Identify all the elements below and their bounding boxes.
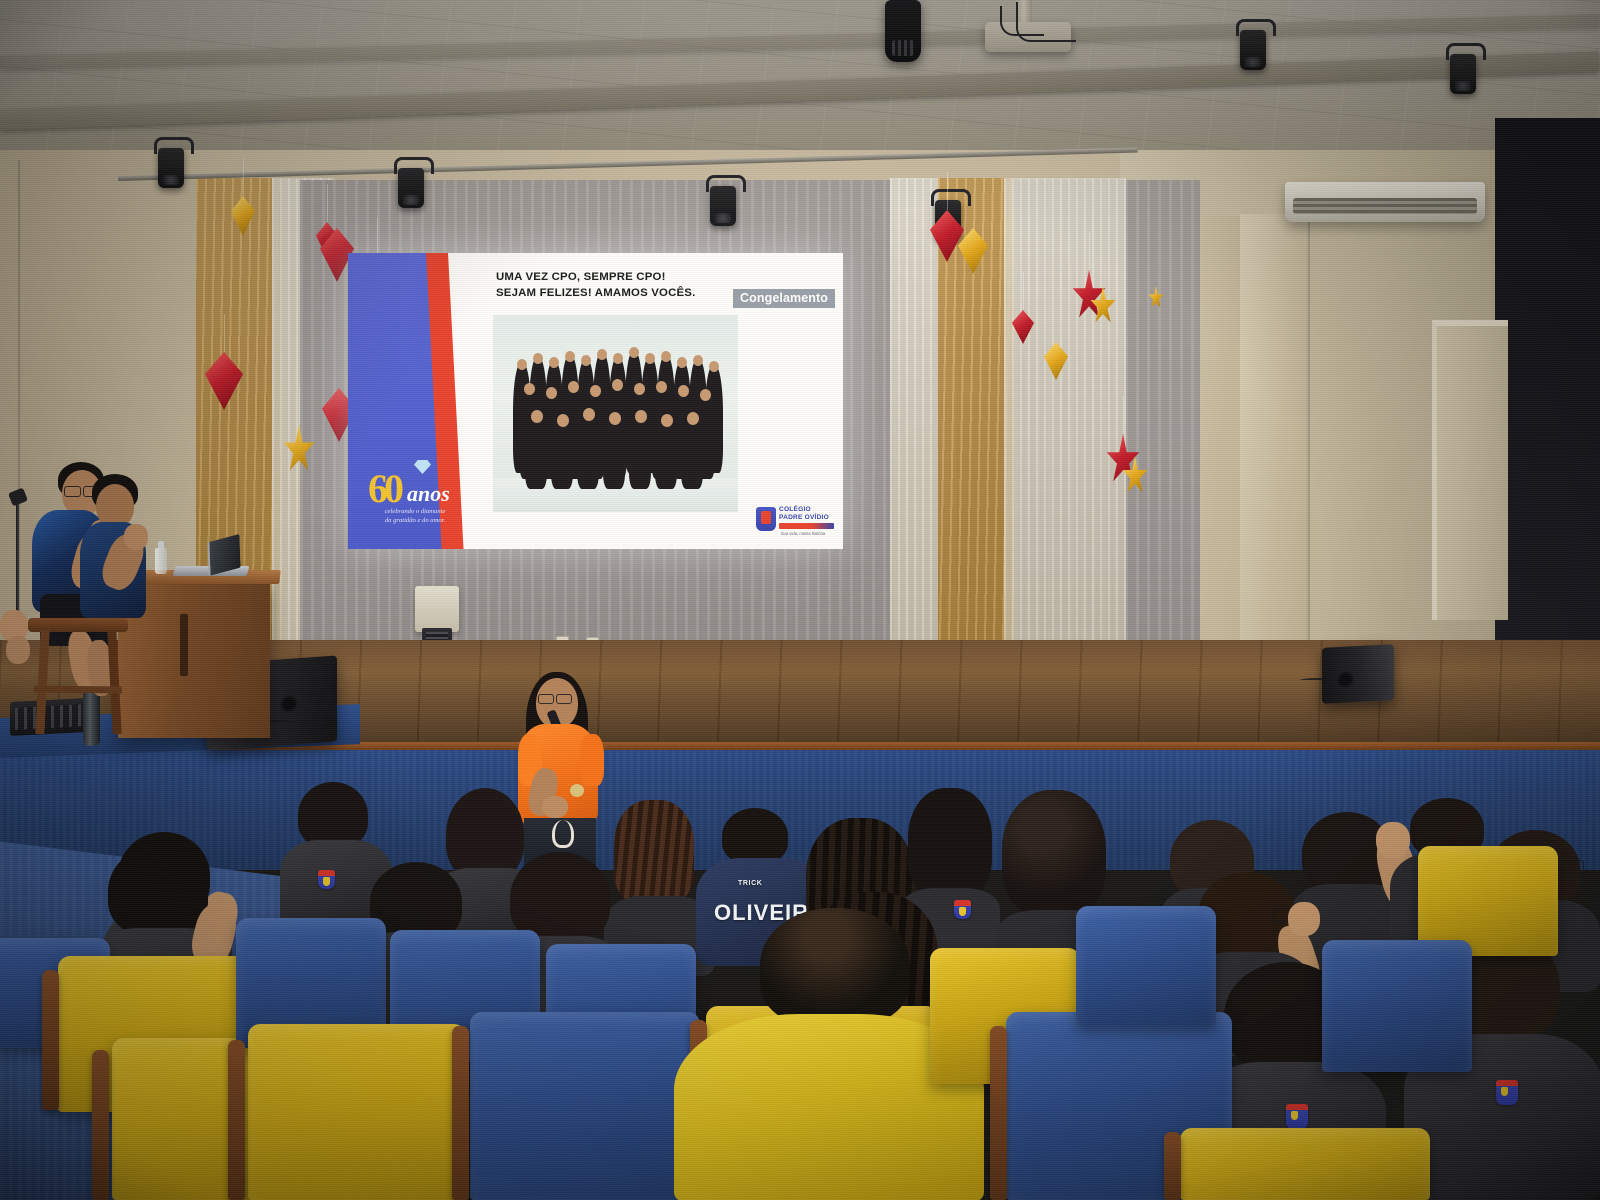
auditorium-scene: UMA VEZ CPO, SEMPRE CPO! SEJAM FELIZES! …: [0, 0, 1600, 1200]
side-door[interactable]: [1432, 320, 1508, 620]
clapping-hand: [1288, 902, 1320, 936]
stage-cable: [1296, 678, 1342, 682]
seat-armrest: [42, 970, 59, 1110]
curly-hair: [1002, 790, 1106, 918]
arm-right-sleeve: [580, 734, 604, 786]
hair: [298, 782, 368, 848]
curly-hair: [760, 908, 910, 1026]
seat-armrest: [228, 1040, 245, 1200]
clapping-hand: [6, 636, 30, 664]
stage-light-fixture: [1240, 30, 1266, 70]
water-bottle: [83, 690, 100, 746]
hanging-decoration-gold-star: [1122, 456, 1148, 496]
decoration-thread: [299, 387, 300, 425]
slide-badge: Congelamento: [733, 289, 835, 308]
stage-light-fixture: [398, 168, 424, 208]
gold-star-balloon: [1148, 286, 1164, 310]
gold-diamond-balloon: [958, 228, 988, 274]
school-shield-icon: [756, 507, 776, 531]
red-diamond-balloon: [1012, 310, 1034, 344]
slide-headline-line1: UMA VEZ CPO, SEMPRE CPO!: [496, 269, 746, 285]
gold-diamond-balloon: [1044, 342, 1068, 380]
eyeglasses-icon: [1562, 860, 1584, 874]
hair: [722, 808, 788, 864]
jersey-brand-text: TRICK: [738, 880, 762, 887]
auditorium-seat[interactable]: [1180, 1128, 1430, 1200]
hand: [124, 524, 148, 550]
hanging-decoration-gold-star: [283, 425, 315, 475]
tagline-line1: celebrando o diamante: [366, 507, 464, 516]
gold-star-balloon: [1122, 456, 1148, 496]
seat-armrest: [452, 1026, 469, 1200]
gold-diamond-balloon: [231, 196, 255, 236]
school-name: COLÉGIO PADRE OVÍDIO: [779, 506, 829, 522]
tagline-line2: da gratidão e do amor.: [366, 516, 464, 525]
school-crest-icon: [1286, 1104, 1308, 1129]
stage-light-fixture: [710, 186, 736, 226]
school-logo-bar: [779, 523, 834, 529]
wristwatch: [570, 784, 584, 797]
auditorium-seat[interactable]: [1076, 906, 1216, 1026]
hanging-decoration-gold-diamond: [958, 228, 988, 274]
stool-rung: [34, 686, 122, 694]
anniversary-word: anos: [407, 481, 450, 507]
school-crest-icon: [954, 900, 971, 919]
diamond-icon: [414, 460, 431, 474]
hand: [542, 796, 568, 818]
gold-star-balloon: [283, 425, 315, 475]
auditorium-seat[interactable]: [248, 1024, 466, 1200]
school-name-line1: COLÉGIO: [779, 506, 829, 514]
auditorium-seat[interactable]: [1322, 940, 1472, 1072]
eyeglasses-icon: [538, 694, 554, 704]
partition-panel-b: [1240, 214, 1308, 676]
hanging-decoration-gold-diamond: [1044, 342, 1068, 380]
drawstring: [552, 820, 574, 848]
decoration-thread: [377, 218, 378, 256]
ac-louvers: [1293, 198, 1477, 214]
decoration-thread: [947, 172, 948, 210]
school-crest-icon: [318, 870, 335, 889]
ceiling-camera: [885, 0, 921, 62]
hair: [908, 788, 992, 900]
stage-light-fixture: [1450, 54, 1476, 94]
stage-power-box[interactable]: [415, 586, 459, 632]
seat-armrest: [92, 1050, 109, 1200]
anniversary-tagline: celebrando o diamante da gratidão e do a…: [366, 507, 464, 525]
stage-light-fixture: [158, 148, 184, 188]
slide-headline-line2: SEJAM FELIZES! AMAMOS VOCÊS.: [496, 285, 746, 301]
slide-group-photo: [493, 315, 738, 512]
decoration-thread: [327, 184, 328, 222]
wall-seam: [1308, 190, 1310, 680]
gold-star-balloon: [1090, 286, 1116, 326]
school-logo: COLÉGIO PADRE OVÍDIO Sua vida, nossa his…: [756, 505, 834, 539]
hanging-decoration-gold-star: [1090, 286, 1116, 326]
decoration-thread: [1123, 396, 1124, 434]
slide-headline: UMA VEZ CPO, SEMPRE CPO! SEJAM FELIZES! …: [496, 269, 746, 301]
hanging-decoration-gold-diamond: [231, 196, 255, 236]
decoration-thread: [243, 158, 244, 196]
decoration-thread: [1089, 232, 1090, 270]
ceiling-cable: [1016, 2, 1076, 42]
hair: [108, 846, 208, 936]
ceiling-air-conditioner: [1285, 182, 1485, 222]
tech-crew-member-back: [78, 472, 188, 682]
hanging-decoration-red-diamond: [1012, 310, 1034, 344]
audio-mixer[interactable]: [10, 698, 88, 736]
decoration-thread: [224, 314, 225, 352]
seat-armrest: [1164, 1132, 1181, 1200]
anniversary-number: 60: [368, 465, 400, 512]
anniversary-logo: 60 anos celebrando o diamante da gratidã…: [362, 451, 462, 527]
red-diamond-balloon: [205, 352, 243, 410]
stage-monitor-speaker-right: [1322, 644, 1394, 704]
auditorium-seat[interactable]: [470, 1012, 700, 1200]
school-crest-icon: [1496, 1080, 1518, 1105]
right-dark-corner: [1495, 118, 1600, 718]
seat-armrest: [990, 1026, 1007, 1200]
school-name-line2: PADRE OVÍDIO: [779, 514, 829, 522]
clapping-hand: [1376, 822, 1410, 858]
hanging-decoration-gold-star: [1148, 286, 1164, 310]
eyeglasses-icon: [556, 694, 572, 704]
school-tagline: Sua vida, nossa história: [772, 531, 834, 536]
hanging-decoration-red-diamond: [205, 352, 243, 410]
projected-slide: UMA VEZ CPO, SEMPRE CPO! SEJAM FELIZES! …: [348, 253, 843, 549]
white-sheer-curtain-far-right: [1004, 178, 1126, 664]
decoration-thread: [1023, 272, 1024, 310]
